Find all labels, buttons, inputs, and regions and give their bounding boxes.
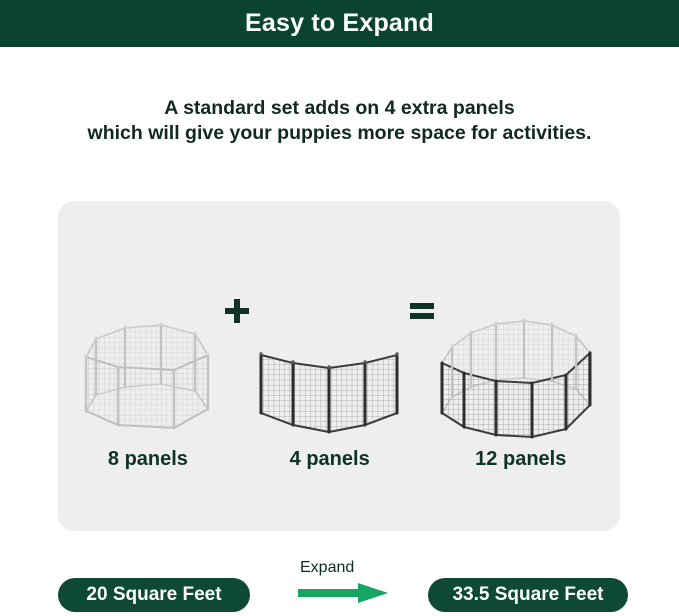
subtitle-line-1: A standard set adds on 4 extra panels xyxy=(0,96,679,121)
figure-4-panel xyxy=(253,201,405,441)
expand-label: Expand xyxy=(296,558,408,578)
expand-indicator: Expand xyxy=(296,558,408,604)
figure-label-4-panels: 4 panels xyxy=(255,448,404,471)
plus-icon xyxy=(224,298,250,324)
equals-icon xyxy=(409,301,435,321)
figure-label-row: 8 panels 4 panels 12 panels xyxy=(58,439,620,479)
badge-after-area: 33.5 Square Feet xyxy=(428,578,628,612)
playpen-8-panel-icon xyxy=(78,311,220,441)
header-banner: Easy to Expand xyxy=(0,0,679,47)
expansion-card: 8 panels 4 panels 12 panels xyxy=(58,201,620,531)
arrow-right-icon xyxy=(296,582,408,604)
footer-row: 20 Square Feet Expand 33.5 Square Feet xyxy=(0,556,679,616)
figure-8-panel xyxy=(78,201,220,441)
figure-row xyxy=(58,201,620,441)
figure-label-8-panels: 8 panels xyxy=(78,448,218,471)
plus-operator xyxy=(220,201,253,441)
playpen-4-panel-icon xyxy=(253,333,405,441)
equals-operator xyxy=(405,201,438,441)
figure-12-panel xyxy=(438,201,600,441)
page-title: Easy to Expand xyxy=(245,11,434,36)
subtitle-block: A standard set adds on 4 extra panels wh… xyxy=(0,96,679,146)
badge-before-area: 20 Square Feet xyxy=(58,578,250,612)
playpen-12-panel-icon xyxy=(438,309,600,441)
subtitle-line-2: which will give your puppies more space … xyxy=(0,121,679,146)
figure-label-12-panels: 12 panels xyxy=(442,448,600,471)
